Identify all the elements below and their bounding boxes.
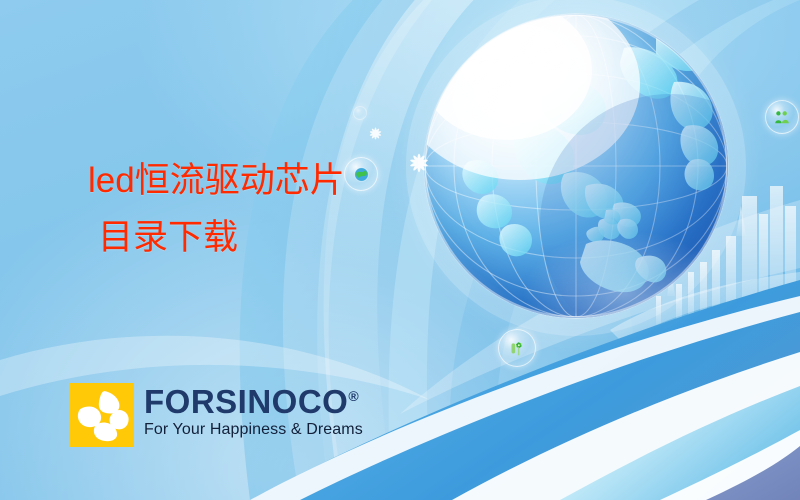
four-petal-flower-icon	[70, 383, 134, 447]
title-line-2: 目录下载	[98, 217, 418, 260]
green-people-icon	[773, 108, 791, 126]
brand-tagline: For Your Happiness & Dreams	[144, 421, 363, 439]
slide-canvas: led恒流驱动芯片 目录下载 FORSINOCO® For Your Happi…	[0, 0, 800, 500]
green-pinwheel-icon	[506, 337, 528, 359]
logo-text-block: FORSINOCO® For Your Happiness & Dreams	[144, 383, 363, 439]
bubble-pinwheel-icon	[498, 329, 536, 367]
earth-globe-graphic	[424, 14, 728, 318]
slide-title: led恒流驱动芯片 目录下载	[88, 160, 418, 259]
brand-name: FORSINOCO®	[144, 385, 363, 418]
company-logo: FORSINOCO® For Your Happiness & Dreams	[70, 383, 363, 447]
brand-word: FORSINOCO	[144, 383, 348, 420]
bubble-small-icon	[353, 106, 367, 120]
title-line-1: led恒流驱动芯片	[88, 160, 418, 203]
registered-mark: ®	[348, 388, 359, 404]
white-daisy-flower-small	[367, 125, 384, 142]
bubble-people-icon	[765, 100, 799, 134]
